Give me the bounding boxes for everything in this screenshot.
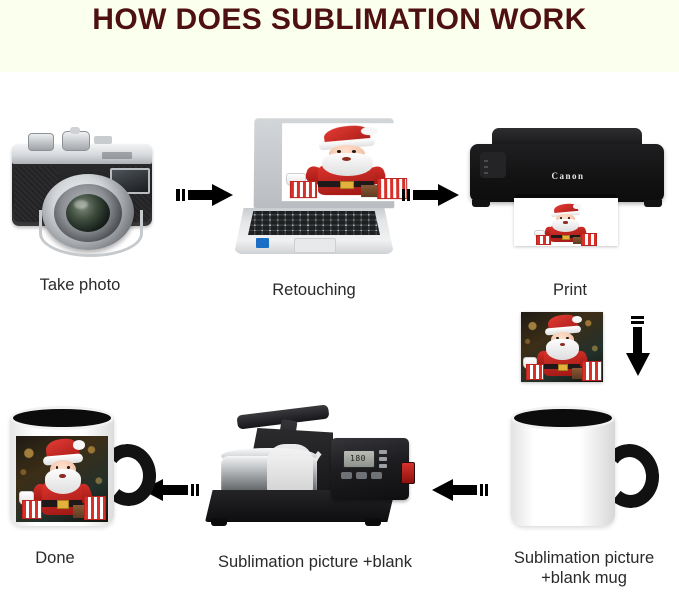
press-power-switch [401,462,415,484]
printed-santa-artwork [532,202,598,246]
camera-brand-plate [102,152,132,159]
blank-mug-body [511,414,615,526]
santa-beard [322,153,373,176]
santa-hat-pompom [573,204,582,209]
printed-mug-icon [6,400,156,535]
arrow-mug-to-press [432,477,490,503]
camera-dial-left [28,133,54,151]
santa-mouth [59,474,65,478]
santa-artwork-screen [282,123,411,201]
santa-gift-right [582,361,602,381]
arrow-laptop-to-printer [402,182,460,208]
santa-gift-left [22,500,42,519]
arrow-printer-to-transfer [624,316,652,378]
camera-lens-glint [74,200,88,209]
camera-icon [6,118,158,258]
santa-hat-pompom [73,440,85,449]
santa-mouth [563,221,568,223]
camera-lens-hood [39,210,143,257]
camera-dial-right [62,131,90,151]
printed-mug-body [10,414,114,526]
santa-belt-buckle [57,500,68,509]
caption-take-photo: Take photo [0,275,160,295]
press-button-1 [341,472,352,479]
santa-gift-left [536,235,551,246]
press-foot-left [211,518,227,526]
arrow-camera-to-laptop [176,182,234,208]
press-foot-right [365,518,381,526]
press-button-2 [356,472,367,479]
printer-panel-buttons [484,156,488,174]
laptop-keyboard [248,211,380,235]
santa-belt-buckle [340,181,355,189]
santa-gift-left [290,181,318,199]
caption-retouching: Retouching [232,280,396,300]
sublimation-transfer-print [521,312,603,382]
blank-mug-rim-interior [511,406,615,430]
press-button-3 [371,472,382,479]
laptop-sticker [256,238,269,248]
santa-hat-pompom [361,127,378,136]
caption-done: Done [0,548,110,568]
press-control-box [331,438,409,500]
santa-gift-left [526,364,544,380]
laptop-trackpad [294,238,336,253]
printed-mug-rim-interior [10,406,114,430]
printed-mug-artwork [16,436,108,522]
press-indicator-1 [379,450,387,454]
laptop-screen [282,123,411,201]
laptop-icon [232,118,396,258]
santa-belt-buckle [562,235,571,241]
press-indicator-2 [379,457,387,461]
santa-gift-right [581,233,598,246]
printer-brand-logo: Canon [540,170,596,182]
mug-heat-press-icon: 180 [205,398,420,538]
camera-hotshoe [94,136,112,144]
laptop-lid [254,118,395,208]
printer-foot-right [644,200,662,207]
page-title: HOW DOES SUBLIMATION WORK [0,0,679,42]
caption-sublimation-picture-blank: Sublimation picture +blank [185,552,445,572]
camera-shutter-button [70,127,80,134]
printer-icon: Canon [462,128,672,256]
santa-belt-buckle [558,364,568,372]
caption-print: Print [490,280,650,300]
press-indicator-3 [379,464,387,468]
blank-mug-icon [505,400,665,535]
santa-gift-right [84,496,106,520]
press-lcd-value: 180 [345,453,371,463]
caption-sublimation-picture-blank-mug: Sublimation picture +blank mug [489,548,679,588]
printer-foot-left [472,200,490,207]
santa-beard [546,339,579,360]
